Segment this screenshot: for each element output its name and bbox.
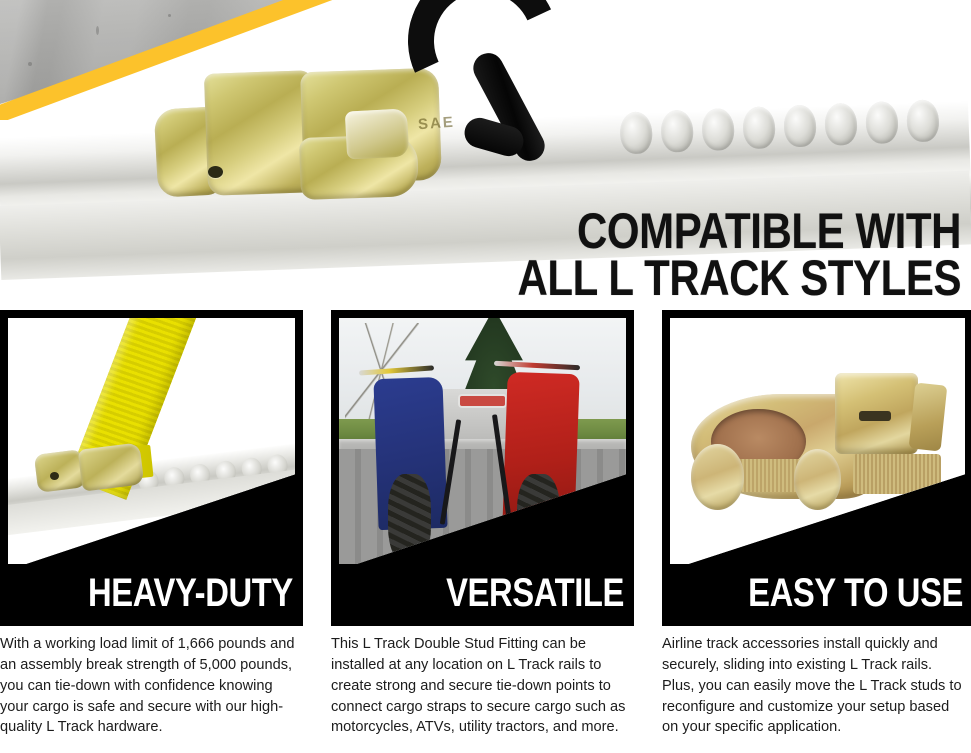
feature-card-easy-to-use: EASY TO USE xyxy=(662,310,971,626)
hero-tie-down-hook xyxy=(398,0,618,196)
feature-card-caption-versatile: VERSATILE xyxy=(446,573,624,613)
feature-card-photo-versatile xyxy=(339,318,626,570)
hero-banner: SAE COMPATIBLE WITH ALL L TRACK STYLES xyxy=(0,0,971,308)
feature-card-caption-heavy-duty: HEAVY-DUTY xyxy=(88,573,293,613)
feature-card-row: HEAVY-DUTY xyxy=(0,310,971,626)
feature-card-caption-easy-to-use: EASY TO USE xyxy=(748,573,963,613)
feature-description-easy-to-use: Airline track accessories install quickl… xyxy=(662,634,971,753)
hero-headline: COMPATIBLE WITH ALL L TRACK STYLES xyxy=(517,208,961,302)
feature-description-row: With a working load limit of 1,666 pound… xyxy=(0,634,971,753)
feature-card-caption-band: EASY TO USE xyxy=(662,564,971,626)
hero-headline-line-2: ALL L TRACK STYLES xyxy=(517,255,961,302)
feature-card-heavy-duty: HEAVY-DUTY xyxy=(0,310,303,626)
feature-card-caption-band: VERSATILE xyxy=(331,564,634,626)
feature-card-photo-heavy-duty xyxy=(8,318,295,570)
hero-headline-line-1: COMPATIBLE WITH xyxy=(517,208,961,255)
feature-card-versatile: VERSATILE xyxy=(331,310,634,626)
feature-description-versatile: This L Track Double Stud Fitting can be … xyxy=(331,634,634,753)
feature-card-photo-easy-to-use xyxy=(670,318,965,570)
feature-card-caption-band: HEAVY-DUTY xyxy=(0,564,303,626)
feature-description-heavy-duty: With a working load limit of 1,666 pound… xyxy=(0,634,303,753)
product-feature-page: SAE COMPATIBLE WITH ALL L TRACK STYLES xyxy=(0,0,971,753)
